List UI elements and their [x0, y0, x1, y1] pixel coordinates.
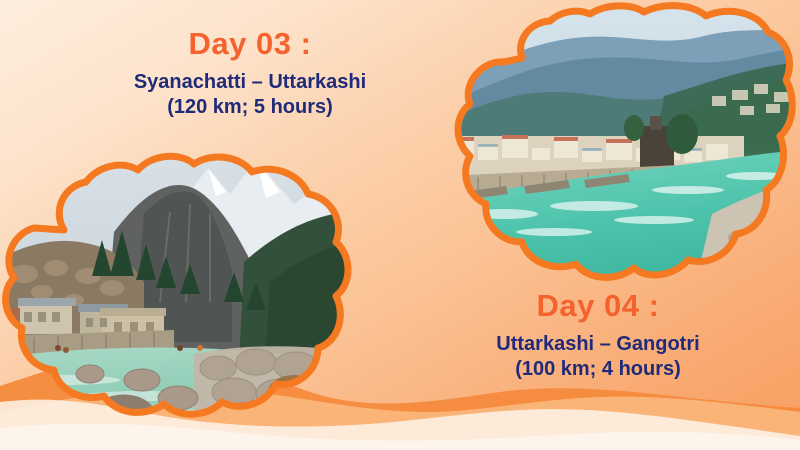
- slide-canvas: Day 03 : Syanachatti – Uttarkashi (120 k…: [0, 0, 800, 450]
- day-03-heading: Day 03 :: [50, 26, 450, 62]
- day-03-text-block: Day 03 : Syanachatti – Uttarkashi (120 k…: [50, 26, 450, 121]
- day-03-distance: (120 km; 5 hours): [50, 95, 450, 121]
- day-03-route: Syanachatti – Uttarkashi: [50, 70, 450, 96]
- photo-uttarkashi-town-river: [444, 0, 800, 290]
- day-04-route: Uttarkashi – Gangotri: [398, 332, 798, 358]
- day-04-heading: Day 04 :: [398, 288, 798, 324]
- day-04-distance: (100 km; 4 hours): [398, 357, 798, 383]
- photo-gangotri-bhagirathi-boulders: [0, 152, 360, 450]
- day-04-text-block: Day 04 : Uttarkashi – Gangotri (100 km; …: [398, 288, 798, 383]
